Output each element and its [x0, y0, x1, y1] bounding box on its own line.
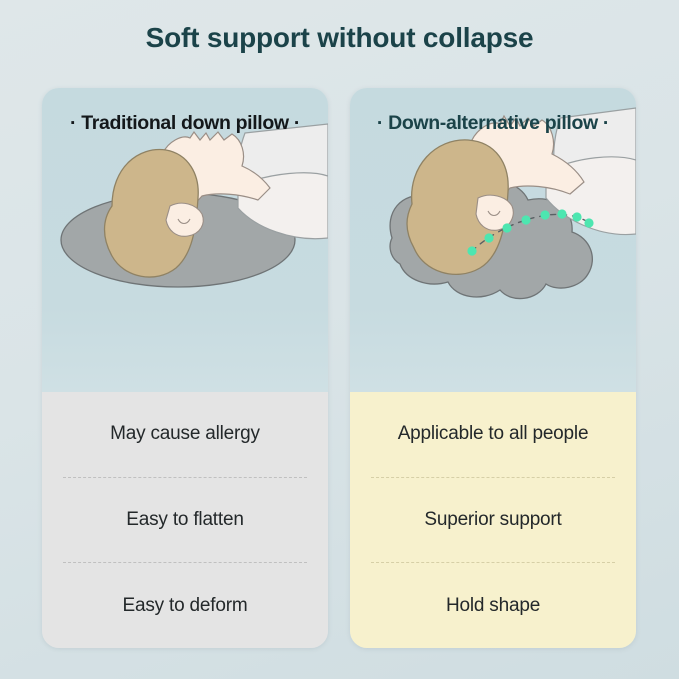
support-dot	[540, 210, 549, 219]
page-title: Soft support without collapse	[0, 22, 679, 54]
support-dot	[484, 233, 493, 242]
fact-row: Superior support	[368, 478, 618, 563]
fact-row: Applicable to all people	[368, 392, 618, 477]
card-header-traditional: · Traditional down pillow ·	[42, 88, 328, 158]
support-dot	[584, 218, 593, 227]
support-dot	[502, 223, 511, 232]
support-dot	[572, 212, 581, 221]
illustration-pane-right: · Down-alternative pillow ·	[350, 88, 636, 392]
card-traditional-down-pillow: · Traditional down pillow · May cause al…	[42, 88, 328, 648]
support-dot	[521, 215, 530, 224]
facts-pane-right: Applicable to all people Superior suppor…	[350, 392, 636, 648]
card-header-down-alternative: · Down-alternative pillow ·	[350, 88, 636, 158]
chin-shape	[166, 203, 203, 236]
illustration-pane-left: · Traditional down pillow ·	[42, 88, 328, 392]
support-dot	[557, 209, 566, 218]
support-dot	[467, 246, 476, 255]
fact-row: May cause allergy	[60, 392, 310, 477]
card-down-alternative-pillow: · Down-alternative pillow ·	[350, 88, 636, 648]
facts-pane-left: May cause allergy Easy to flatten Easy t…	[42, 392, 328, 648]
fact-row: Easy to deform	[60, 563, 310, 648]
fact-row: Easy to flatten	[60, 478, 310, 563]
comparison-cards-container: · Traditional down pillow · May cause al…	[42, 88, 637, 648]
fact-row: Hold shape	[368, 563, 618, 648]
